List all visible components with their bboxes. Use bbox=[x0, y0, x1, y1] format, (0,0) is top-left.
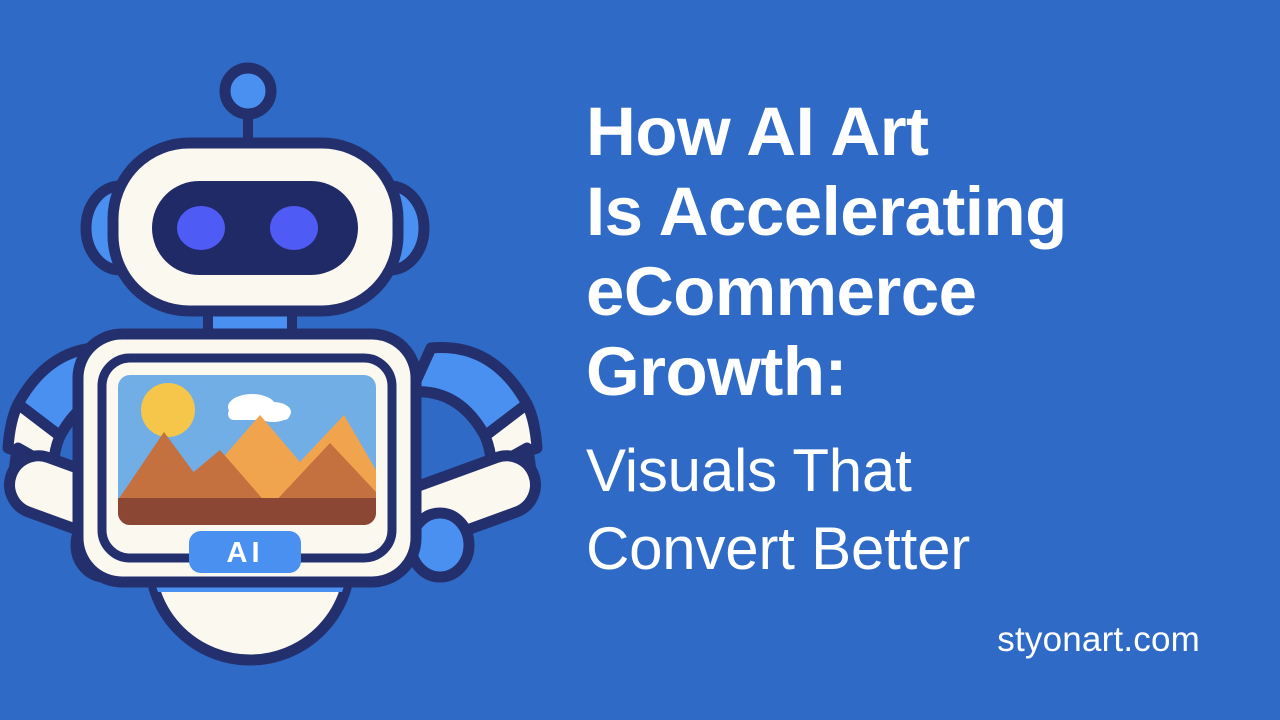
ground-strip bbox=[118, 498, 376, 525]
page-title: How AI Art Is Accelerating eCommerce Gro… bbox=[586, 92, 1246, 412]
page-subtitle: Visuals That Convert Better bbox=[586, 432, 1246, 588]
sun-icon bbox=[141, 383, 195, 437]
site-url-label: styonart.com bbox=[997, 620, 1200, 660]
tablet-screen-artwork bbox=[118, 375, 376, 525]
headline-line-4: Growth: bbox=[586, 332, 1246, 412]
robot-left-eye-icon bbox=[177, 206, 225, 250]
headline-line-2: Is Accelerating bbox=[586, 172, 1246, 252]
svg-text:AI: AI bbox=[227, 537, 264, 569]
headline-line-1: How AI Art bbox=[586, 92, 1246, 172]
headline-line-3: eCommerce bbox=[586, 252, 1246, 332]
ai-badge: AI bbox=[189, 531, 301, 573]
subhead-line-1: Visuals That bbox=[586, 432, 1246, 510]
robot-head-icon bbox=[113, 143, 398, 311]
subhead-line-2: Convert Better bbox=[586, 510, 1246, 588]
social-share-banner: AI How AI Art Is Accel bbox=[0, 0, 1280, 720]
robot-right-eye-icon bbox=[270, 206, 318, 250]
robot-illustration: AI bbox=[0, 0, 545, 720]
text-column: How AI Art Is Accelerating eCommerce Gro… bbox=[586, 0, 1246, 720]
